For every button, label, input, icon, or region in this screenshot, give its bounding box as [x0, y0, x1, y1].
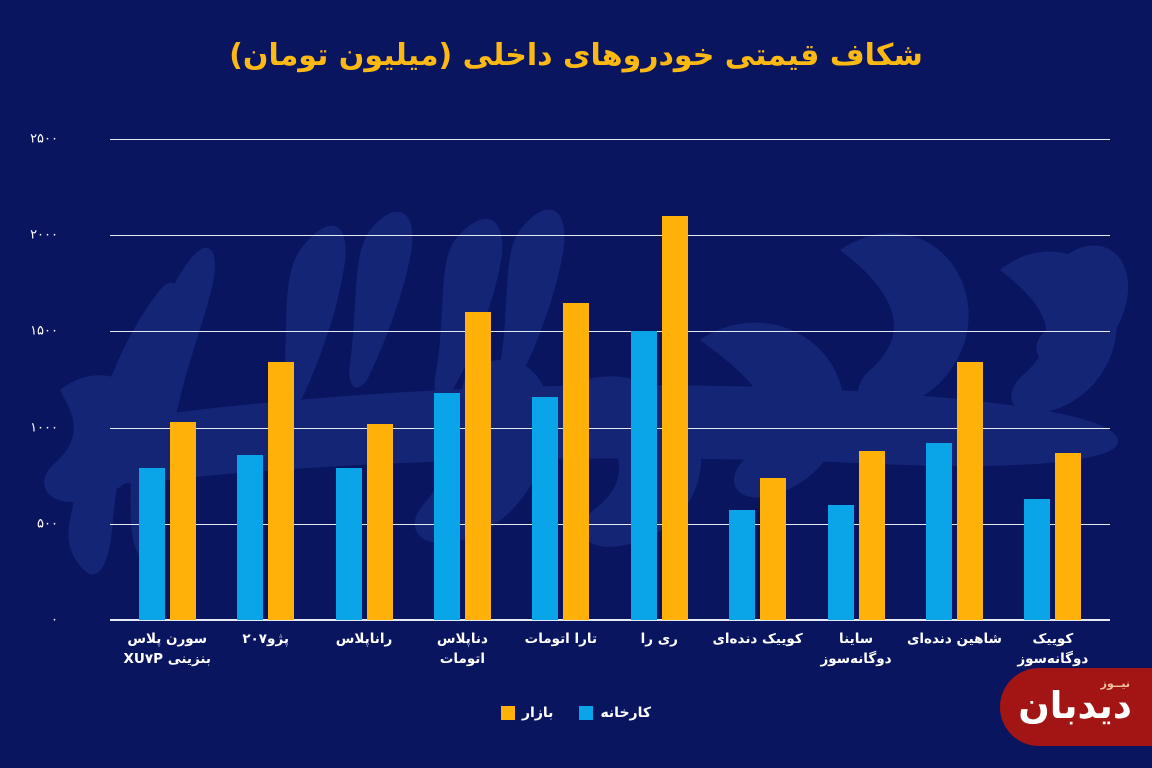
x-axis-label-line: پژو۲۰۷ — [216, 630, 314, 650]
x-axis-label: ساینادوگانه‌سوز — [807, 628, 905, 698]
logo-inner: نیــوز دیدبان — [1010, 677, 1142, 737]
x-axis-label-line: اتومات — [413, 650, 511, 670]
chart-root: شکاف قیمتی خودروهای داخلی (میلیون تومان)… — [0, 0, 1152, 768]
plot-area: ۲۵۰۰ ۲۰۰۰ ۱۵۰۰ ۱۰۰۰ ۵۰۰ ۰ — [110, 139, 1110, 620]
bar-factory[interactable] — [336, 468, 362, 620]
legend-item-market[interactable]: بازار — [501, 705, 553, 721]
bar-market[interactable] — [760, 478, 786, 620]
bar-market[interactable] — [170, 422, 196, 620]
x-axis-label: کوییک دنده‌ای — [708, 628, 806, 698]
x-axis-label-line: سورن پلاس — [118, 630, 216, 650]
x-axis-label-line: کوییک — [1004, 630, 1102, 650]
x-axis-label-line: دوگانه‌سوز — [1004, 650, 1102, 670]
bar-market[interactable] — [1055, 453, 1081, 620]
bar-group — [1004, 139, 1102, 620]
x-axis-label-line: دناپلاس — [413, 630, 511, 650]
bar-group — [118, 139, 216, 620]
legend-swatch-factory-icon — [579, 706, 593, 720]
bar-market[interactable] — [268, 362, 294, 620]
x-axis-label-line: تارا اتومات — [512, 630, 610, 650]
bar-group — [413, 139, 511, 620]
bar-group — [708, 139, 806, 620]
x-axis-label-line: کوییک دنده‌ای — [708, 630, 806, 650]
bar-group — [216, 139, 314, 620]
chart-title: شکاف قیمتی خودروهای داخلی (میلیون تومان) — [0, 38, 1152, 73]
bar-factory[interactable] — [1024, 499, 1050, 620]
legend-label-factory: کارخانه — [600, 705, 651, 721]
bar-factory[interactable] — [828, 505, 854, 620]
x-axis-labels: سورن پلاسبنزینی XU۷Pپژو۲۰۷راناپلاسدناپلا… — [110, 628, 1110, 698]
ytick-label-1500: ۱۵۰۰ — [0, 324, 58, 339]
x-axis-label: پژو۲۰۷ — [216, 628, 314, 698]
ytick-label-500: ۵۰۰ — [0, 517, 58, 532]
chart-legend: بازار کارخانه — [0, 705, 1152, 721]
bar-group — [610, 139, 708, 620]
x-axis-label-line: راناپلاس — [315, 630, 413, 650]
x-axis-label: تارا اتومات — [512, 628, 610, 698]
bar-factory[interactable] — [631, 331, 657, 620]
bar-factory[interactable] — [139, 468, 165, 620]
ytick-label-2000: ۲۰۰۰ — [0, 228, 58, 243]
x-axis-label-line: ری را — [610, 630, 708, 650]
bar-groups — [110, 139, 1110, 620]
x-axis-label: دناپلاساتومات — [413, 628, 511, 698]
legend-label-market: بازار — [522, 705, 553, 721]
x-axis-label-line: بنزینی XU۷P — [118, 650, 216, 670]
bar-factory[interactable] — [237, 455, 263, 620]
ytick-label-2500: ۲۵۰۰ — [0, 132, 58, 147]
bar-market[interactable] — [662, 216, 688, 620]
bar-factory[interactable] — [926, 443, 952, 620]
x-axis-label: ری را — [610, 628, 708, 698]
x-axis-label-line: ساینا — [807, 630, 905, 650]
bar-market[interactable] — [957, 362, 983, 620]
logo-wordmark: دیدبان — [1014, 687, 1136, 724]
publisher-logo: نیــوز دیدبان — [1000, 668, 1152, 746]
bar-market[interactable] — [859, 451, 885, 620]
x-axis-label: شاهین دنده‌ای — [905, 628, 1003, 698]
bar-group — [807, 139, 905, 620]
ytick-label-1000: ۱۰۰۰ — [0, 421, 58, 436]
bar-factory[interactable] — [532, 397, 558, 620]
bar-factory[interactable] — [729, 510, 755, 620]
legend-swatch-market-icon — [501, 706, 515, 720]
x-axis-label: راناپلاس — [315, 628, 413, 698]
bar-market[interactable] — [367, 424, 393, 620]
x-axis-label-line: دوگانه‌سوز — [807, 650, 905, 670]
bar-group — [512, 139, 610, 620]
ytick-label-0: ۰ — [0, 613, 58, 628]
bar-market[interactable] — [465, 312, 491, 620]
x-axis-label: سورن پلاسبنزینی XU۷P — [118, 628, 216, 698]
bar-market[interactable] — [563, 303, 589, 620]
bar-group — [315, 139, 413, 620]
legend-item-factory[interactable]: کارخانه — [579, 705, 651, 721]
bar-factory[interactable] — [434, 393, 460, 620]
x-axis-label-line: شاهین دنده‌ای — [905, 630, 1003, 650]
bar-group — [905, 139, 1003, 620]
